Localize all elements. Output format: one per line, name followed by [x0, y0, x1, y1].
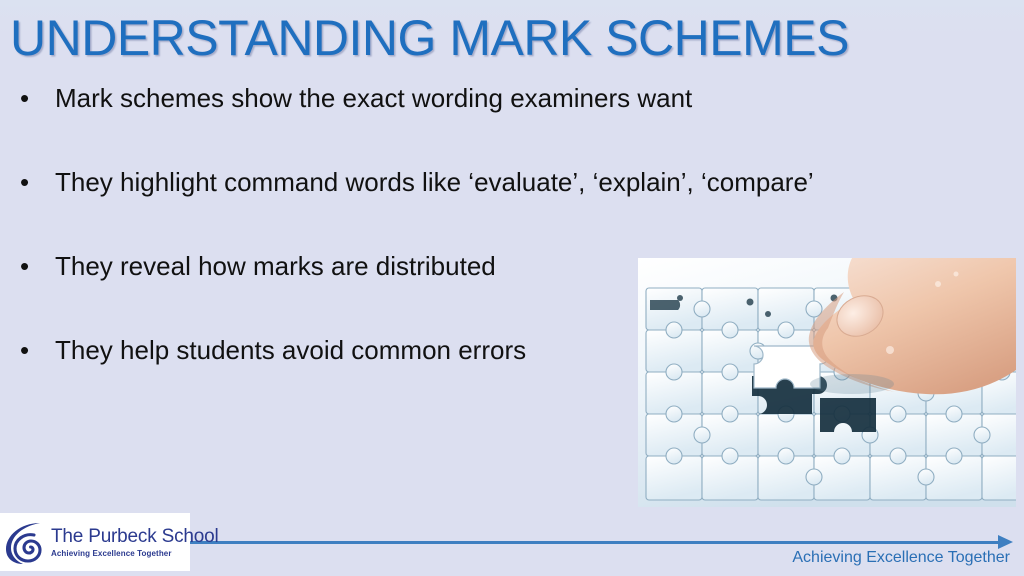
list-item: • They reveal how marks are distributed — [10, 250, 630, 334]
page-title: UNDERSTANDING MARK SCHEMES — [10, 8, 910, 68]
list-item-text: They highlight command words like ‘evalu… — [55, 167, 814, 197]
list-item: • They help students avoid common errors — [10, 334, 630, 418]
ammonite-spiral-icon — [4, 519, 48, 565]
list-item: • Mark schemes show the exact wording ex… — [10, 82, 630, 166]
logo-text-block: The Purbeck School Achieving Excellence … — [51, 526, 219, 559]
arrow-head-icon — [998, 535, 1013, 549]
list-item-text: They reveal how marks are distributed — [55, 251, 496, 281]
list-item: • They highlight command words like ‘eva… — [10, 166, 1015, 250]
bullet-marker-icon: • — [20, 334, 29, 366]
logo-strapline: Achieving Excellence Together — [51, 548, 219, 559]
bullet-marker-icon: • — [20, 82, 29, 114]
logo-school-name: The Purbeck School — [51, 526, 219, 548]
footer-tagline: Achieving Excellence Together — [792, 548, 1010, 568]
school-logo: The Purbeck School Achieving Excellence … — [0, 513, 190, 571]
bullet-marker-icon: • — [20, 166, 29, 198]
slide: UNDERSTANDING MARK SCHEMES • Mark scheme… — [0, 0, 1024, 576]
list-item-text: They help students avoid common errors — [55, 335, 526, 365]
bullet-list: • Mark schemes show the exact wording ex… — [10, 82, 630, 418]
bullet-marker-icon: • — [20, 250, 29, 282]
list-item-text: Mark schemes show the exact wording exam… — [55, 83, 692, 113]
puzzle-photo — [638, 258, 1016, 507]
footer-arrow-line — [186, 541, 1006, 544]
